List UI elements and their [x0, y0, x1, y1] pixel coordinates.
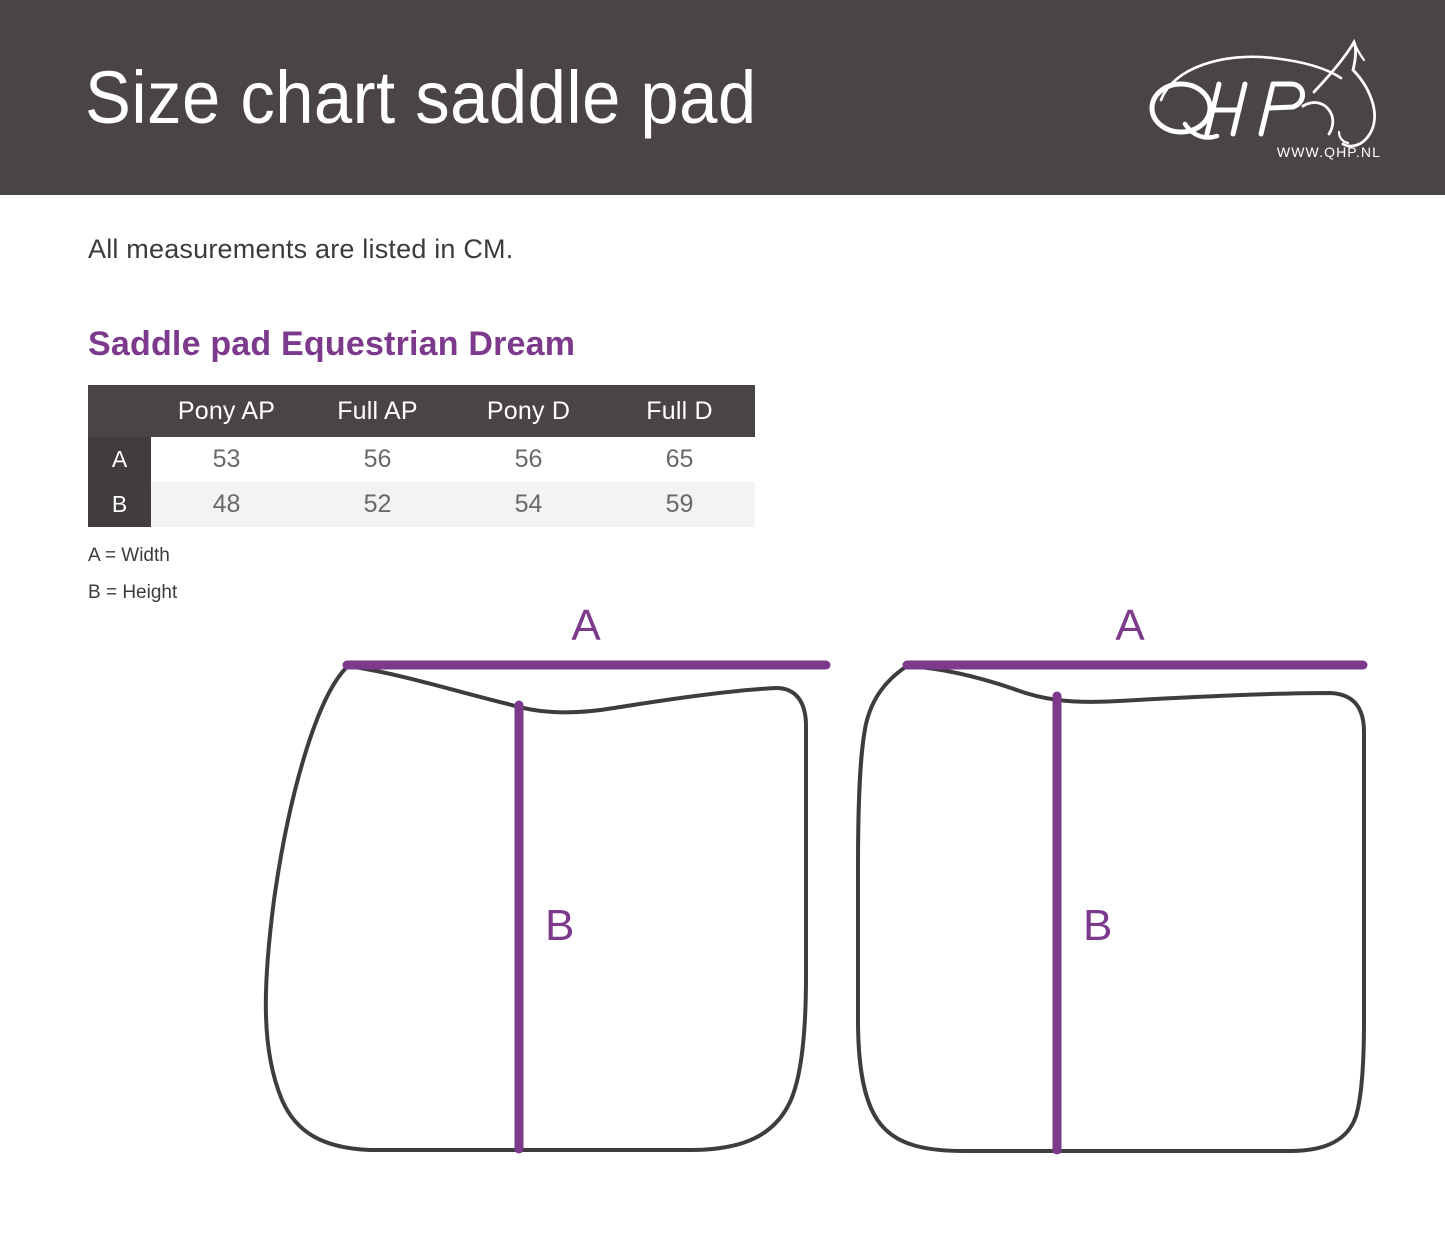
table-header-row: Pony AP Full AP Pony D Full D — [88, 385, 755, 437]
dressage-height-label: B — [1083, 901, 1112, 950]
product-title: Saddle pad Equestrian Dream — [88, 325, 575, 364]
row-label-b: B — [88, 482, 151, 527]
logo-url-text: WWW.QHP.NL — [1277, 144, 1381, 160]
column-header-pony-d: Pony D — [453, 385, 604, 437]
cell-a-pony-ap: 53 — [151, 437, 302, 482]
column-header-full-d: Full D — [604, 385, 755, 437]
column-header-pony-ap: Pony AP — [151, 385, 302, 437]
measurement-unit-note: All measurements are listed in CM. — [88, 234, 513, 265]
qhp-logo: WWW.QHP.NL — [1133, 28, 1383, 168]
all-purpose-pad-outline — [266, 666, 806, 1150]
cell-a-full-d: 65 — [604, 437, 755, 482]
cell-b-full-d: 59 — [604, 482, 755, 527]
column-header-full-ap: Full AP — [302, 385, 453, 437]
all-purpose-height-label: B — [545, 901, 574, 950]
size-chart-page: Size chart saddle pad WWW.QHP.NL — [0, 0, 1445, 1239]
table-corner-cell — [88, 385, 151, 437]
table-row: B 48 52 54 59 — [88, 482, 755, 527]
saddle-pad-diagrams: A B A B — [0, 600, 1445, 1210]
cell-a-pony-d: 56 — [453, 437, 604, 482]
legend-a-width: A = Width — [88, 537, 177, 574]
diagram-all-purpose: A B — [266, 601, 826, 1150]
cell-b-full-ap: 52 — [302, 482, 453, 527]
table-header: Pony AP Full AP Pony D Full D — [88, 385, 755, 437]
table-row: A 53 56 56 65 — [88, 437, 755, 482]
cell-b-pony-d: 54 — [453, 482, 604, 527]
cell-b-pony-ap: 48 — [151, 482, 302, 527]
dressage-width-label: A — [1115, 601, 1145, 650]
size-table: Pony AP Full AP Pony D Full D A 53 56 56… — [88, 385, 755, 527]
all-purpose-width-label: A — [571, 601, 601, 650]
page-header: Size chart saddle pad WWW.QHP.NL — [0, 0, 1445, 195]
cell-a-full-ap: 56 — [302, 437, 453, 482]
row-label-a: A — [88, 437, 151, 482]
page-title: Size chart saddle pad — [85, 61, 757, 135]
diagram-dressage: A B — [858, 601, 1364, 1151]
